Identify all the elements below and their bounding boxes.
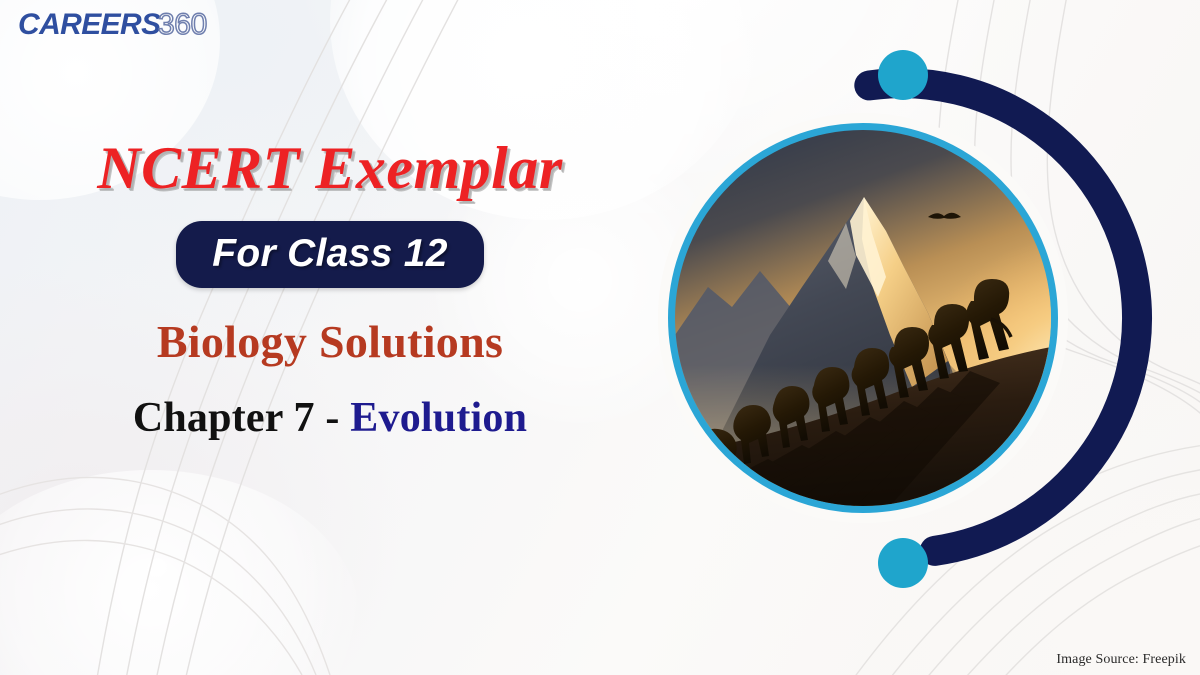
- logo-text-careers: CAREERS: [18, 8, 161, 41]
- poster-canvas: CAREERS 360 NCERT Exemplar For Class 12 …: [0, 0, 1200, 675]
- chapter-line: Chapter 7 - Evolution: [0, 396, 660, 440]
- background-dot-accent: [147, 558, 169, 580]
- subject-title: Biology Solutions: [0, 318, 660, 366]
- class-badge-wrap: For Class 12: [0, 221, 660, 288]
- evolution-artwork: [650, 35, 1190, 615]
- artwork-svg: [650, 35, 1190, 615]
- class-badge-label: For Class 12: [212, 232, 448, 275]
- background-blob-bottomleft: [0, 470, 360, 675]
- page-title: NCERT Exemplar: [0, 138, 660, 199]
- logo-wordmark: CAREERS 360: [18, 8, 236, 42]
- class-badge: For Class 12: [176, 221, 484, 288]
- logo-text-360: 360: [158, 8, 207, 41]
- accent-dot-top: [878, 50, 928, 100]
- headline-block: NCERT Exemplar For Class 12 Biology Solu…: [0, 138, 660, 441]
- image-source-credit: Image Source: Freepik: [1056, 652, 1186, 668]
- chapter-topic: Evolution: [350, 395, 527, 441]
- careers360-logo[interactable]: CAREERS 360: [18, 8, 236, 42]
- accent-dot-bottom: [878, 538, 928, 588]
- chapter-prefix: Chapter 7 -: [133, 395, 350, 441]
